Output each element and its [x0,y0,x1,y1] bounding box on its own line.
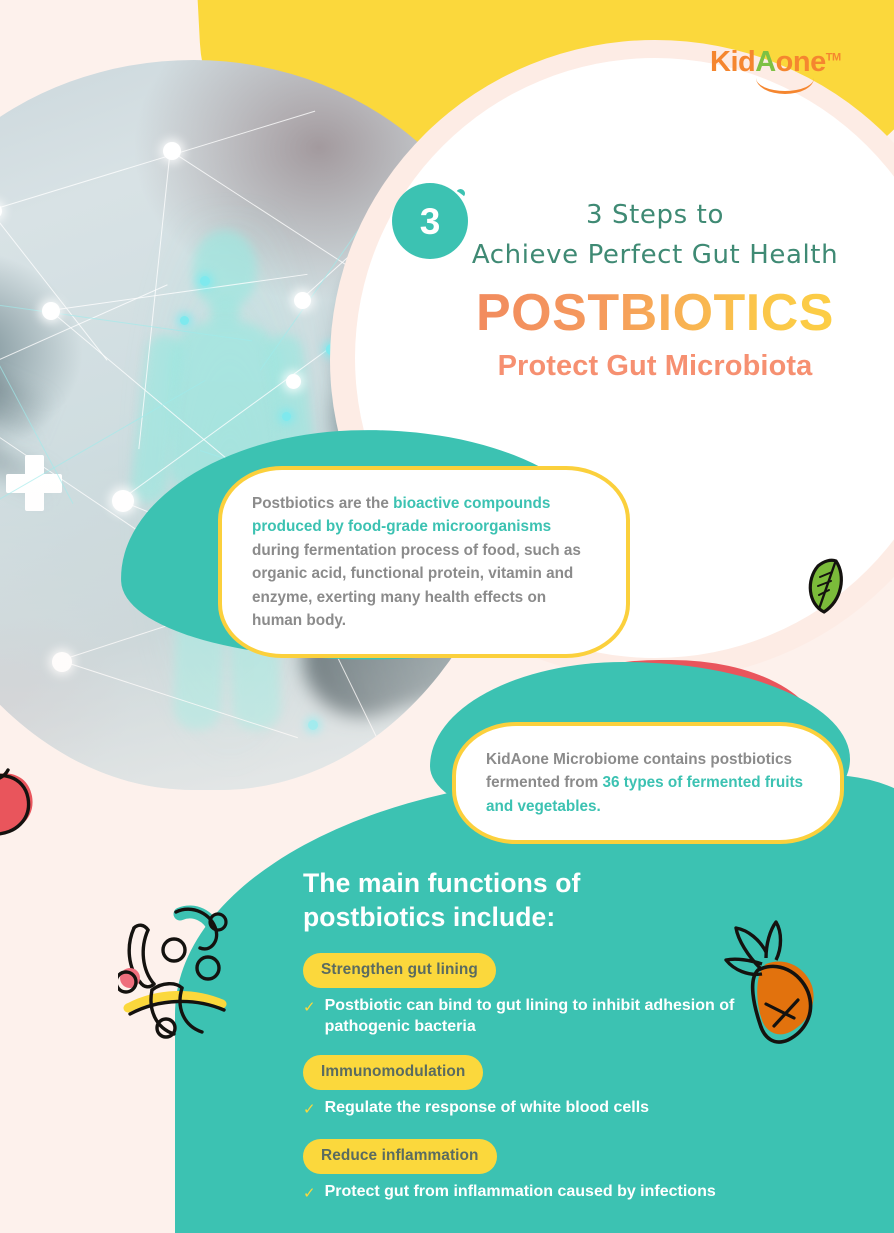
function-entry: Reduce inflammation ✓ Protect gut from i… [303,1121,743,1205]
function-entry: Immunomodulation ✓ Regulate the response… [303,1037,743,1121]
brand-logo[interactable]: KidAoneTM [710,48,860,94]
function-pill-immunomodulation: Immunomodulation [303,1055,483,1090]
page-subtitle: Protect Gut Microbiota [430,350,880,383]
logo-smile-icon [756,78,814,94]
bacteria-doodles [118,892,258,1042]
leaf-icon [802,556,850,618]
bubble2-text-part2: . [597,798,601,815]
check-icon: ✓ [303,1182,316,1205]
logo-one-text: one [776,46,826,78]
function-bullet: ✓ Regulate the response of white blood c… [303,1098,743,1121]
function-pill-strengthen-gut-lining: Strengthen gut lining [303,953,496,988]
function-description: Regulate the response of white blood cel… [325,1098,650,1119]
logo-kid-text: Kid [710,46,755,78]
functions-heading-line-1: The main functions of [303,868,580,898]
apple-icon [0,748,66,848]
function-description: Protect gut from inflammation caused by … [325,1182,716,1203]
trademark-symbol: TM [826,51,841,63]
functions-heading-line-2: postbiotics include: [303,902,555,932]
info-bubble-product: KidAone Microbiome contains postbiotics … [452,722,844,844]
kicker-line-1: 3 Steps to [430,196,880,236]
bubble1-text-part1: Postbiotics are the [252,495,393,512]
bubble1-text-part2: during fermentation process of food, suc… [252,542,581,629]
function-bullet: ✓ Protect gut from inflammation caused b… [303,1182,743,1205]
check-icon: ✓ [303,1098,316,1121]
check-icon: ✓ [303,996,316,1019]
medical-cross-icon [6,455,62,511]
functions-heading: The main functions of postbiotics includ… [303,866,743,935]
headline-block: 3 Steps to Achieve Perfect Gut Health PO… [430,196,880,383]
kicker-line-2: Achieve Perfect Gut Health [430,236,880,276]
page-title: POSTBIOTICS [430,287,880,340]
function-entry: Strengthen gut lining ✓ Postbiotic can b… [303,935,743,1038]
info-bubble-definition: Postbiotics are the bioactive compounds … [218,466,630,658]
logo-a-letter: A [755,46,775,78]
infographic-poster: KidAoneTM 3 3 Steps to Achieve Perfect G… [0,0,894,1233]
function-description: Postbiotic can bind to gut lining to inh… [325,996,743,1038]
functions-panel: The main functions of postbiotics includ… [303,866,743,1205]
function-bullet: ✓ Postbiotic can bind to gut lining to i… [303,996,743,1038]
function-pill-reduce-inflammation: Reduce inflammation [303,1139,497,1174]
